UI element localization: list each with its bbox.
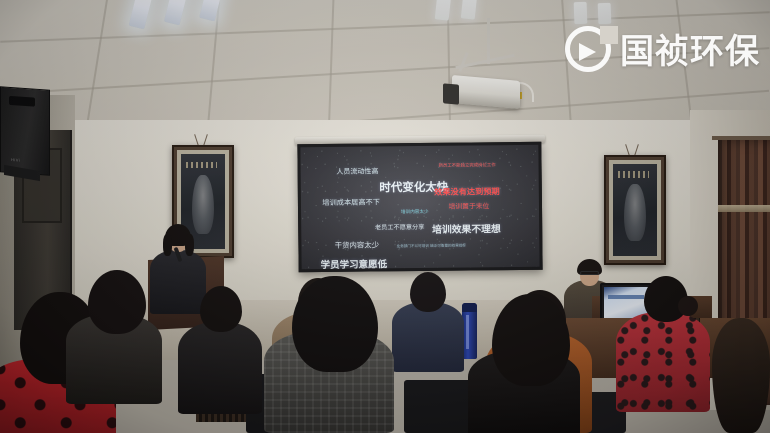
brand-mark-icon bbox=[565, 26, 611, 72]
projector-lens bbox=[443, 83, 459, 104]
slide-word: 新员工不能独立完成岗位工作 bbox=[439, 162, 496, 169]
watermark-brand-text: 国祯环保 bbox=[620, 24, 760, 73]
brand-arrow-icon bbox=[579, 43, 596, 61]
slide-word: 培训成本居高不下 bbox=[322, 198, 380, 209]
art-canvas bbox=[613, 164, 657, 256]
art-figure bbox=[624, 184, 645, 241]
attendee-head bbox=[492, 294, 570, 386]
speaker-brand-label: HiVi bbox=[11, 157, 20, 163]
slide-word: 学员学习意愿低 bbox=[321, 256, 388, 269]
slide-surface: 人员流动性高时代变化太快培训成本居高不下培训内容太少老员工不愿意分享干货内容太少… bbox=[300, 145, 539, 269]
attendee-hair-bun bbox=[678, 296, 698, 316]
watermark-logo: 国祯环保 bbox=[565, 24, 760, 73]
ceiling-light bbox=[461, 0, 478, 20]
curtain-tieback[interactable] bbox=[718, 205, 770, 212]
attendee-head bbox=[410, 272, 446, 312]
slide-word: 业务部门不认可培训 缺乏可衡量的效果指标 bbox=[397, 243, 466, 249]
attendee-head bbox=[712, 318, 770, 433]
wall-speaker: HiVi bbox=[0, 86, 50, 175]
slide-word: 培训效果不理想 bbox=[432, 221, 501, 236]
projector bbox=[452, 75, 520, 109]
attendee-body bbox=[178, 322, 262, 414]
slide-word: 人员流动性高 bbox=[336, 166, 378, 176]
presenter-hair-side bbox=[163, 234, 172, 256]
framed-scroll-right bbox=[604, 155, 666, 265]
attendee-head bbox=[292, 276, 378, 372]
attendee-body bbox=[616, 312, 710, 412]
art-figure bbox=[192, 175, 213, 234]
slide-word: 培训内容太少 bbox=[401, 209, 429, 215]
slide-word: 效果没有达到预期 bbox=[434, 185, 500, 198]
thermos-flask bbox=[462, 303, 477, 359]
ceiling-light bbox=[574, 2, 588, 24]
ceiling-light bbox=[435, 0, 452, 21]
operator-glasses bbox=[580, 271, 599, 275]
seminar-photo: HiVi 人员流动性高时代变化太快培训成本居高不下培训内容太少老员工不愿意分享干… bbox=[0, 0, 770, 433]
presenter-hair-side bbox=[185, 234, 194, 256]
slide-word: 老员工不愿意分享 bbox=[375, 222, 425, 232]
thermos-highlight bbox=[466, 315, 469, 349]
projector-mount-rod bbox=[487, 18, 490, 64]
attendee-body bbox=[392, 302, 464, 372]
slide-word: 培训置于末位 bbox=[448, 200, 489, 210]
attendee-head bbox=[200, 286, 242, 332]
art-calligraphy-strip bbox=[618, 171, 649, 177]
attendee-head bbox=[88, 270, 146, 334]
speaker-port bbox=[9, 96, 35, 107]
projection-screen: 人员流动性高时代变化太快培训成本居高不下培训内容太少老员工不愿意分享干货内容太少… bbox=[297, 142, 542, 273]
slide-word: 干货内容太少 bbox=[335, 239, 379, 250]
chair-back bbox=[404, 380, 476, 433]
art-calligraphy-strip bbox=[186, 162, 217, 169]
monitor-window bbox=[608, 295, 644, 299]
thermos-cap bbox=[462, 303, 477, 312]
ceiling-light bbox=[598, 3, 612, 24]
